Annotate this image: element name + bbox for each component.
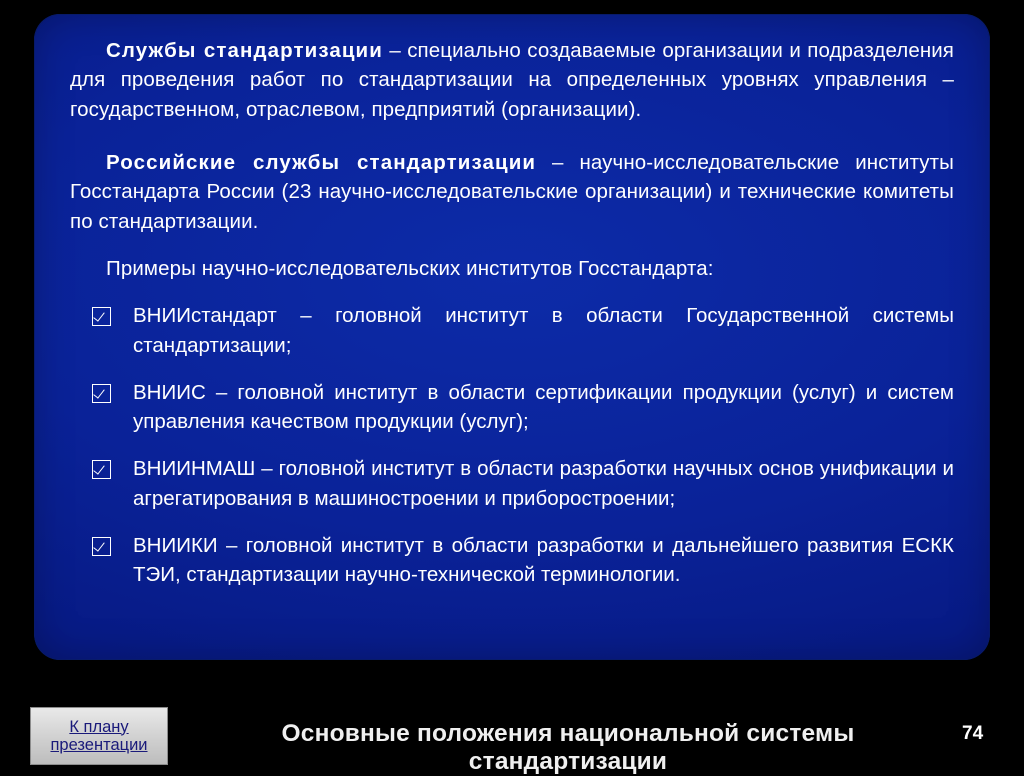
- spacer-2: [70, 236, 954, 254]
- list-item: ВНИИКИ – головной институт в области раз…: [70, 531, 954, 590]
- paragraph-2-lead: Российские службы стандартизации: [106, 151, 536, 174]
- spacer-5: [70, 436, 954, 454]
- list-item-label: ВНИИНМАШ – головной институт в области р…: [133, 454, 954, 513]
- spacer-6: [70, 513, 954, 531]
- list-item: ВНИИС – головной институт в области серт…: [70, 378, 954, 437]
- checkbox-checked-icon: [92, 537, 111, 556]
- back-to-plan-button[interactable]: К плану презентации: [30, 707, 168, 765]
- footer-title: Основные положения национальной системы …: [188, 720, 948, 776]
- spacer-3: [70, 283, 954, 301]
- paragraph-3-rest: Примеры научно-исследовательских институ…: [106, 257, 714, 280]
- paragraph-examples-intro: Примеры научно-исследовательских институ…: [70, 254, 954, 283]
- paragraph-services-definition: Службы стандартизации – специально созда…: [70, 36, 954, 124]
- checkbox-checked-icon: [92, 384, 111, 403]
- back-button-line2: презентации: [50, 736, 147, 754]
- paragraph-russian-services: Российские службы стандартизации – научн…: [70, 148, 954, 236]
- page-number: 74: [962, 723, 983, 745]
- slide-body: Службы стандартизации – специально созда…: [70, 36, 954, 590]
- paragraph-1-lead: Службы стандартизации: [106, 39, 383, 62]
- spacer-4: [70, 360, 954, 378]
- back-button-line1: К плану: [69, 718, 128, 736]
- list-item-label: ВНИИС – головной институт в области серт…: [133, 378, 954, 437]
- content-panel: Службы стандартизации – специально созда…: [34, 14, 990, 660]
- checkbox-checked-icon: [92, 307, 111, 326]
- list-item-label: ВНИИКИ – головной институт в области раз…: [133, 531, 954, 590]
- spacer-1: [70, 124, 954, 148]
- slide: Службы стандартизации – специально созда…: [0, 0, 1024, 767]
- list-item: ВНИИстандарт – головной институт в облас…: [70, 301, 954, 360]
- list-item: ВНИИНМАШ – головной институт в области р…: [70, 454, 954, 513]
- list-item-label: ВНИИстандарт – головной институт в облас…: [133, 301, 954, 360]
- checkbox-checked-icon: [92, 460, 111, 479]
